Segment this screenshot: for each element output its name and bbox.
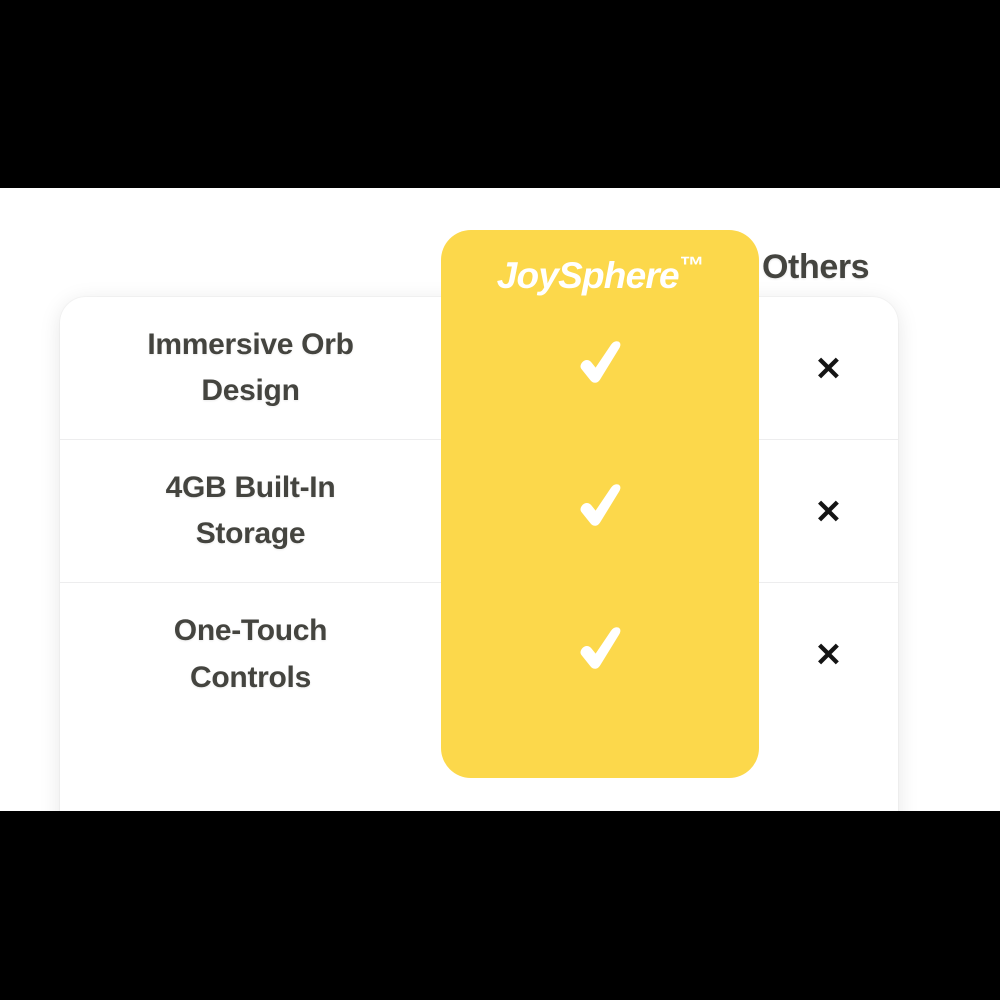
content-canvas: Others Immersive Orb Design ✕ 4GB Buil bbox=[0, 188, 1000, 811]
comparison-graphic: Others Immersive Orb Design ✕ 4GB Buil bbox=[0, 0, 1000, 1000]
table-row: One-Touch Controls ✕ bbox=[60, 583, 898, 726]
feature-label-line-1: One-Touch bbox=[174, 614, 327, 647]
feature-label-line-2: Design bbox=[201, 374, 299, 407]
letterbox-bar-top bbox=[0, 0, 1000, 188]
cross-icon: ✕ bbox=[815, 495, 843, 528]
cross-icon: ✕ bbox=[815, 638, 843, 671]
others-value-cell: ✕ bbox=[759, 495, 898, 528]
feature-label-line-2: Storage bbox=[196, 517, 306, 550]
others-value-cell: ✕ bbox=[759, 352, 898, 385]
column-header-others: Others bbox=[762, 248, 869, 287]
brand-name: JoySphere bbox=[497, 255, 679, 296]
feature-label-cell: One-Touch Controls bbox=[60, 608, 441, 701]
trademark-mark: ™ bbox=[679, 252, 704, 280]
cross-icon: ✕ bbox=[815, 352, 843, 385]
table-row: Immersive Orb Design ✕ bbox=[60, 297, 898, 440]
feature-label-cell: 4GB Built-In Storage bbox=[60, 465, 441, 558]
feature-label-line-2: Controls bbox=[190, 661, 311, 694]
comparison-table-card: Immersive Orb Design ✕ 4GB Built-In Stor… bbox=[60, 297, 898, 811]
letterbox-bar-bottom bbox=[0, 811, 1000, 1000]
feature-label-line-1: Immersive Orb bbox=[147, 328, 353, 361]
feature-label-cell: Immersive Orb Design bbox=[60, 322, 441, 415]
column-header-joysphere: JoySphere™ bbox=[441, 252, 759, 297]
table-row: 4GB Built-In Storage ✕ bbox=[60, 440, 898, 583]
feature-label-line-1: 4GB Built-In bbox=[166, 471, 336, 504]
others-value-cell: ✕ bbox=[759, 638, 898, 671]
